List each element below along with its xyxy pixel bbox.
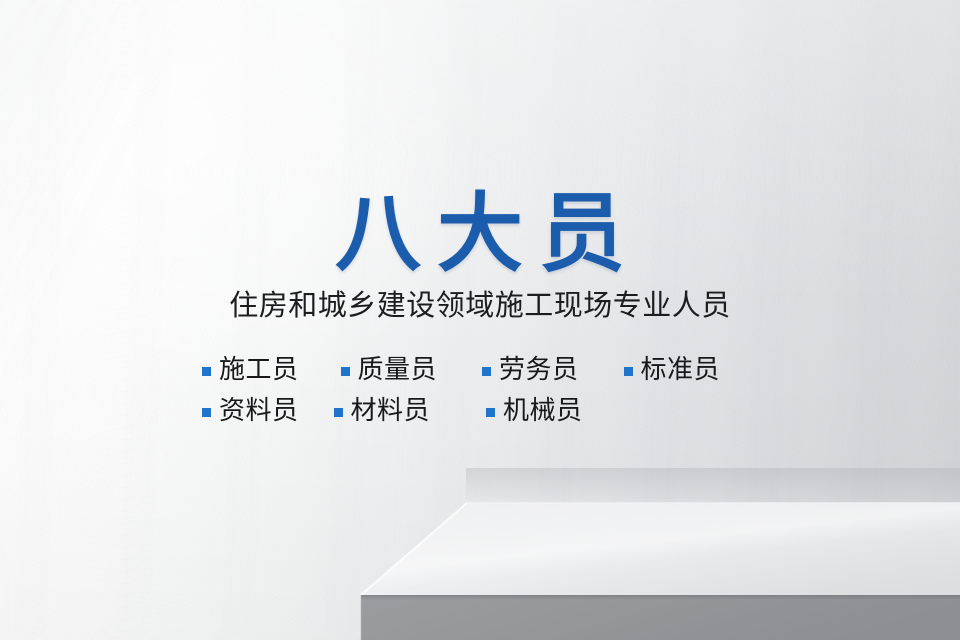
role-label: 机械员 xyxy=(503,396,583,426)
role-item-jixieyuan[interactable]: 机械员 xyxy=(486,396,583,426)
square-bullet-icon xyxy=(334,408,343,417)
role-item-zhiliangyuan[interactable]: 质量员 xyxy=(341,355,438,385)
role-item-laowuyuan[interactable]: 劳务员 xyxy=(482,355,579,385)
square-bullet-icon xyxy=(624,367,633,376)
role-label: 材料员 xyxy=(351,396,431,426)
role-label: 质量员 xyxy=(358,355,438,385)
role-label: 施工员 xyxy=(219,355,299,385)
page-title: 八大员 xyxy=(0,186,960,282)
role-list: 施工员 质量员 劳务员 标准员 资料员 xyxy=(190,350,790,431)
role-label: 标准员 xyxy=(641,355,721,385)
square-bullet-icon xyxy=(341,367,350,376)
role-item-shigongyuan[interactable]: 施工员 xyxy=(202,355,299,385)
role-item-cailiaoyuan[interactable]: 材料员 xyxy=(334,396,431,426)
square-bullet-icon xyxy=(202,408,211,417)
square-bullet-icon xyxy=(482,367,491,376)
role-label: 资料员 xyxy=(219,396,299,426)
role-row-2: 资料员 材料员 机械员 xyxy=(190,391,790,431)
poster-content: 八大员 住房和城乡建设领域施工现场专业人员 施工员 质量员 劳务员 xyxy=(0,0,960,640)
poster-canvas: 八大员 住房和城乡建设领域施工现场专业人员 施工员 质量员 劳务员 xyxy=(0,0,960,640)
square-bullet-icon xyxy=(202,367,211,376)
role-row-1: 施工员 质量员 劳务员 标准员 xyxy=(190,350,790,390)
square-bullet-icon xyxy=(486,408,495,417)
role-item-biaozhunyuan[interactable]: 标准员 xyxy=(624,355,721,385)
page-subtitle: 住房和城乡建设领域施工现场专业人员 xyxy=(0,286,960,324)
role-item-ziliaoyuan[interactable]: 资料员 xyxy=(202,396,299,426)
role-label: 劳务员 xyxy=(499,355,579,385)
